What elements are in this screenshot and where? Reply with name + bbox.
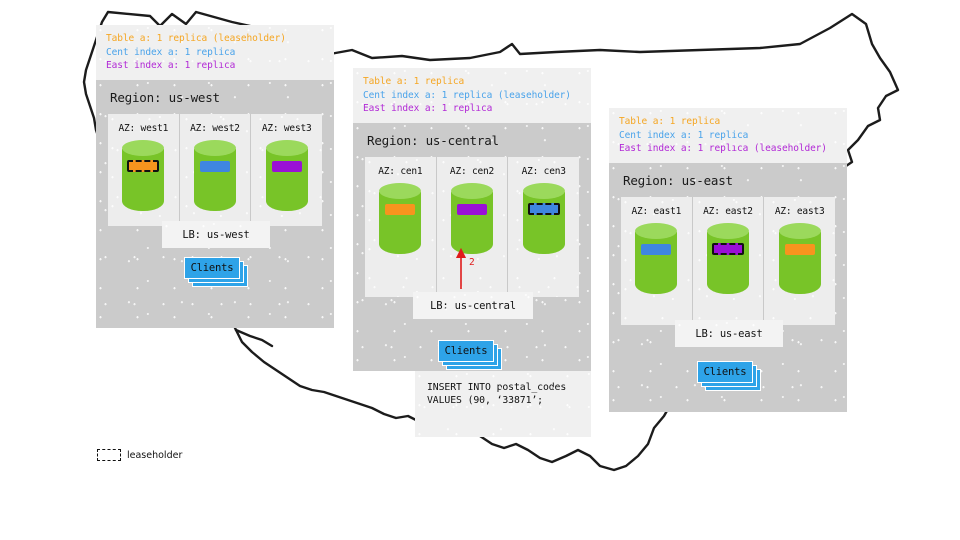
load-balancer-us-west[interactable]: LB: us-west (162, 221, 270, 248)
legend-line-cent-index: Cent index a: 1 replica (leaseholder) (363, 89, 581, 103)
node-cylinder-east1[interactable] (635, 223, 677, 297)
clients-stack-us-west[interactable]: Clients (184, 257, 248, 287)
az-label-west3: AZ: west3 (251, 114, 322, 134)
az-label-west2: AZ: west2 (180, 114, 251, 134)
az-cen3[interactable]: AZ: cen3 (508, 157, 579, 297)
node-cylinder-east2[interactable] (707, 223, 749, 297)
cylinder-body (122, 149, 164, 211)
replica-legend-us-central: Table a: 1 replica Cent index a: 1 repli… (353, 68, 591, 123)
region-panel-us-west: Region: us-west AZ: west1 AZ: west2 (96, 80, 334, 328)
sql-line-2: VALUES (90, ‘33871’; (427, 394, 579, 407)
replica-legend-us-west: Table a: 1 replica (leaseholder) Cent in… (96, 25, 334, 80)
load-balancer-us-east[interactable]: LB: us-east (675, 320, 783, 347)
az-west2[interactable]: AZ: west2 (180, 114, 252, 226)
az-east3[interactable]: AZ: east3 (764, 197, 835, 325)
az-label-cen2: AZ: cen2 (437, 157, 508, 177)
legend-line-table-a: Table a: 1 replica (363, 75, 581, 89)
load-balancer-label: LB: us-east (695, 328, 762, 340)
az-row-us-west: AZ: west1 AZ: west2 AZ (108, 114, 322, 226)
region-title-us-east: Region: us-east (609, 163, 847, 188)
cylinder-top (707, 223, 749, 239)
cylinder-body (379, 192, 421, 254)
region-panel-us-central: Region: us-central AZ: cen1 AZ: cen2 (353, 123, 591, 371)
replica-shard-table-a (785, 244, 815, 255)
node-cylinder-west1[interactable] (122, 140, 164, 214)
sql-statement-note: INSERT INTO postal_codes VALUES (90, ‘33… (415, 371, 591, 437)
region-panel-us-east: Region: us-east AZ: east1 AZ: east2 (609, 163, 847, 412)
az-label-east1: AZ: east1 (621, 197, 692, 217)
az-label-cen1: AZ: cen1 (365, 157, 436, 177)
region-title-us-west: Region: us-west (96, 80, 334, 105)
region-cluster-us-central: Table a: 1 replica Cent index a: 1 repli… (353, 68, 591, 371)
replica-shard-east-index (712, 243, 744, 255)
request-arrow-2: 2 (449, 245, 489, 291)
region-cluster-us-east: Table a: 1 replica Cent index a: 1 repli… (609, 108, 847, 412)
leaseholder-legend-key: leaseholder (97, 449, 182, 461)
cylinder-body (523, 192, 565, 254)
az-east1[interactable]: AZ: east1 (621, 197, 693, 325)
cylinder-top (635, 223, 677, 239)
node-cylinder-west3[interactable] (266, 140, 308, 214)
cylinder-top (451, 183, 493, 199)
legend-line-table-a: Table a: 1 replica (619, 115, 837, 129)
cylinder-top (779, 223, 821, 239)
cylinder-body (266, 149, 308, 211)
replica-shard-table-a (127, 160, 159, 172)
az-label-east3: AZ: east3 (764, 197, 835, 217)
cylinder-top (266, 140, 308, 156)
legend-line-cent-index: Cent index a: 1 replica (106, 46, 324, 60)
az-label-east2: AZ: east2 (693, 197, 764, 217)
node-cylinder-cen1[interactable] (379, 183, 421, 257)
legend-line-east-index: East index a: 1 replica (leaseholder) (619, 142, 837, 156)
legend-line-table-a: Table a: 1 replica (leaseholder) (106, 32, 324, 46)
node-cylinder-west2[interactable] (194, 140, 236, 214)
node-cylinder-cen3[interactable] (523, 183, 565, 257)
cylinder-body (635, 232, 677, 294)
load-balancer-label: LB: us-west (182, 229, 249, 241)
replica-shard-east-index (457, 204, 487, 215)
az-west3[interactable]: AZ: west3 (251, 114, 322, 226)
clients-stack-us-east[interactable]: Clients (697, 361, 761, 391)
clients-label: Clients (704, 366, 747, 378)
az-west1[interactable]: AZ: west1 (108, 114, 180, 226)
replica-legend-us-east: Table a: 1 replica Cent index a: 1 repli… (609, 108, 847, 163)
legend-line-east-index: East index a: 1 replica (106, 59, 324, 73)
replica-shard-cent-index (641, 244, 671, 255)
replica-shard-cent-index (200, 161, 230, 172)
cylinder-body (194, 149, 236, 211)
clients-label: Clients (445, 345, 488, 357)
cylinder-body (779, 232, 821, 294)
cylinder-top (122, 140, 164, 156)
az-cen1[interactable]: AZ: cen1 (365, 157, 437, 297)
leaseholder-swatch-icon (97, 449, 121, 461)
az-label-cen3: AZ: cen3 (508, 157, 579, 177)
diagram-stage: Table a: 1 replica (leaseholder) Cent in… (0, 0, 960, 540)
az-row-us-east: AZ: east1 AZ: east2 AZ (621, 197, 835, 325)
legend-line-cent-index: Cent index a: 1 replica (619, 129, 837, 143)
clients-button[interactable]: Clients (438, 340, 494, 362)
node-cylinder-east3[interactable] (779, 223, 821, 297)
sql-line-1: INSERT INTO postal_codes (427, 381, 579, 394)
replica-shard-east-index (272, 161, 302, 172)
region-title-us-central: Region: us-central (353, 123, 591, 148)
load-balancer-label: LB: us-central (430, 300, 516, 312)
replica-shard-table-a (385, 204, 415, 215)
cylinder-top (194, 140, 236, 156)
legend-line-east-index: East index a: 1 replica (363, 102, 581, 116)
replica-shard-cent-index (528, 203, 560, 215)
az-label-west1: AZ: west1 (108, 114, 179, 134)
request-arrow-label: 2 (469, 257, 475, 268)
clients-label: Clients (191, 262, 234, 274)
leaseholder-legend-label: leaseholder (127, 450, 182, 461)
az-east2[interactable]: AZ: east2 (693, 197, 765, 325)
region-cluster-us-west: Table a: 1 replica (leaseholder) Cent in… (96, 25, 334, 328)
load-balancer-us-central[interactable]: LB: us-central (413, 292, 533, 319)
clients-button[interactable]: Clients (697, 361, 753, 383)
cylinder-body (707, 232, 749, 294)
clients-stack-us-central[interactable]: Clients (438, 340, 502, 370)
cylinder-top (379, 183, 421, 199)
clients-button[interactable]: Clients (184, 257, 240, 279)
cylinder-top (523, 183, 565, 199)
